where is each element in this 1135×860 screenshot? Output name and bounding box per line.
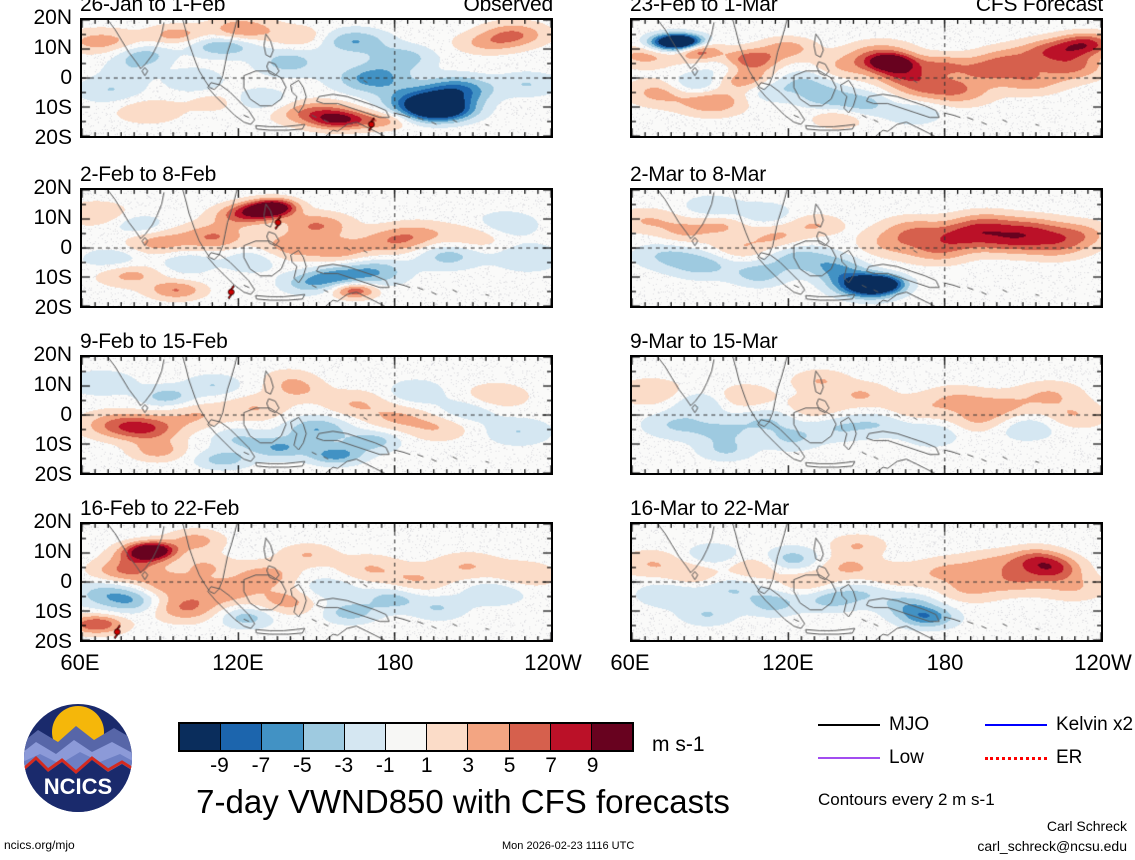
colorbar-swatch-3 — [304, 724, 345, 750]
panel-title: 26-Jan to 1-Feb — [80, 0, 225, 17]
y-tick-0: 0 — [60, 236, 72, 260]
colorbar-swatch-4 — [345, 724, 386, 750]
panel-title: 16-Feb to 22-Feb — [80, 497, 239, 521]
colorbar-tick-label: 9 — [587, 754, 599, 778]
y-tick-20n: 20N — [33, 176, 72, 200]
ncics-logo: NCICS — [22, 702, 134, 814]
panel-forecast-week1: 23-Feb to 1-Mar CFS Forecast — [630, 18, 1103, 138]
logo-text: NCICS — [44, 774, 112, 799]
x-tick-180: 180 — [927, 650, 964, 676]
map-box — [80, 522, 553, 642]
panel-title: 2-Mar to 8-Mar — [630, 163, 766, 187]
map-field — [632, 357, 1101, 473]
colorbar-tick-label: 1 — [421, 754, 433, 778]
panel-observed-week3: 9-Feb to 15-Feb — [80, 355, 553, 475]
chart-main-title: 7-day VWND850 with CFS forecasts — [133, 783, 793, 821]
x-tick-60e: 60E — [610, 650, 649, 676]
y-tick-20n: 20N — [33, 510, 72, 534]
y-tick-0: 0 — [60, 570, 72, 594]
colorbar-swatch-8 — [510, 724, 551, 750]
map-box — [80, 18, 553, 138]
colorbar-swatch-7 — [468, 724, 509, 750]
legend-item-er: ER — [985, 747, 1082, 769]
colorbar-swatch-9 — [551, 724, 592, 750]
map-box — [630, 355, 1103, 475]
colorbar-swatch-5 — [386, 724, 427, 750]
y-tick-0: 0 — [60, 403, 72, 427]
colorbar-tick-label: 3 — [462, 754, 474, 778]
map-box — [630, 18, 1103, 138]
colorbar-tick-label: -7 — [252, 754, 271, 778]
low-line-icon — [818, 757, 880, 759]
panel-forecast-week3: 9-Mar to 15-Mar — [630, 355, 1103, 475]
panel-observed-week1: 26-Jan to 1-Feb Observed — [80, 18, 553, 138]
legend-item-mjo: MJO — [818, 714, 929, 736]
legend-label: Low — [889, 747, 924, 769]
colorbar-tick-label: -5 — [293, 754, 312, 778]
colorbar-swatches — [178, 722, 634, 752]
x-tick-180: 180 — [377, 650, 414, 676]
author-name: Carl Schreck — [1047, 818, 1127, 834]
panel-title: 16-Mar to 22-Mar — [630, 497, 789, 521]
map-box — [80, 188, 553, 308]
y-tick-10s: 10S — [35, 600, 72, 624]
map-field — [82, 190, 551, 306]
legend-item-kelvin: Kelvin x2 — [985, 714, 1133, 736]
colorbar-swatch-1 — [221, 724, 262, 750]
y-tick-20s: 20S — [35, 126, 72, 150]
x-tick-120e: 120E — [762, 650, 813, 676]
map-field — [632, 20, 1101, 136]
panel-corner-label: CFS Forecast — [976, 0, 1103, 17]
legend-label: MJO — [889, 714, 929, 736]
legend-label: ER — [1056, 747, 1082, 769]
y-tick-10s: 10S — [35, 96, 72, 120]
legend-label: Kelvin x2 — [1056, 714, 1133, 736]
colorbar-tick-label: -1 — [376, 754, 395, 778]
site-url[interactable]: ncics.org/mjo — [4, 838, 75, 852]
x-axis-labels-left: 60E 120E 180 120W — [80, 650, 553, 680]
x-tick-120w: 120W — [524, 650, 581, 676]
map-field — [82, 357, 551, 473]
y-tick-10n: 10N — [33, 206, 72, 230]
y-tick-10s: 10S — [35, 433, 72, 457]
panel-forecast-week2: 2-Mar to 8-Mar — [630, 188, 1103, 308]
map-field — [82, 524, 551, 640]
panel-title: 9-Mar to 15-Mar — [630, 330, 778, 354]
y-axis-labels-row2: 20N 10N 0 10S 20S — [0, 188, 72, 308]
colorbar-tick-label: -3 — [334, 754, 353, 778]
author-email[interactable]: carl_schreck@ncsu.edu — [977, 838, 1127, 854]
legend-item-low: Low — [818, 747, 924, 769]
colorbar-units: m s-1 — [652, 733, 705, 757]
mjo-line-icon — [818, 724, 880, 726]
panel-title: 2-Feb to 8-Feb — [80, 163, 216, 187]
map-box — [630, 188, 1103, 308]
map-field — [632, 190, 1101, 306]
panel-title: 9-Feb to 15-Feb — [80, 330, 228, 354]
panel-forecast-week4: 16-Mar to 22-Mar — [630, 522, 1103, 642]
y-tick-20n: 20N — [33, 6, 72, 30]
x-axis-labels-right: 60E 120E 180 120W — [630, 650, 1103, 680]
colorbar-swatch-6 — [427, 724, 468, 750]
wave-legend: MJO Kelvin x2 Low ER — [818, 712, 1128, 774]
colorbar-ticks: -9-7-5-3-113579 — [178, 752, 634, 780]
y-tick-10n: 10N — [33, 36, 72, 60]
er-line-icon — [985, 757, 1047, 760]
y-axis-labels-row1: 20N 10N 0 10S 20S — [0, 18, 72, 138]
panel-observed-week2: 2-Feb to 8-Feb — [80, 188, 553, 308]
panel-corner-label: Observed — [464, 0, 553, 17]
y-axis-labels-row3: 20N 10N 0 10S 20S — [0, 355, 72, 475]
y-tick-10n: 10N — [33, 373, 72, 397]
panel-observed-week4: 16-Feb to 22-Feb — [80, 522, 553, 642]
contour-note: Contours every 2 m s-1 — [818, 790, 995, 810]
colorbar-tick-label: 7 — [545, 754, 557, 778]
y-tick-20s: 20S — [35, 463, 72, 487]
panel-title: 23-Feb to 1-Mar — [630, 0, 778, 17]
y-axis-labels-row4: 20N 10N 0 10S 20S — [0, 522, 72, 642]
map-box — [630, 522, 1103, 642]
map-field — [632, 524, 1101, 640]
y-tick-10s: 10S — [35, 266, 72, 290]
colorbar: -9-7-5-3-113579 — [178, 722, 634, 780]
map-box — [80, 355, 553, 475]
colorbar-swatch-10 — [592, 724, 632, 750]
y-tick-20s: 20S — [35, 296, 72, 320]
colorbar-swatch-0 — [180, 724, 221, 750]
colorbar-swatch-2 — [262, 724, 303, 750]
timestamp: Mon 2026-02-23 1116 UTC — [502, 840, 634, 852]
x-tick-120e: 120E — [212, 650, 263, 676]
y-tick-20n: 20N — [33, 343, 72, 367]
colorbar-tick-label: 5 — [504, 754, 516, 778]
colorbar-tick-label: -9 — [210, 754, 229, 778]
y-tick-10n: 10N — [33, 540, 72, 564]
x-tick-60e: 60E — [60, 650, 99, 676]
map-field — [82, 20, 551, 136]
panel-grid: 20N 10N 0 10S 20S 20N 10N 0 10S 20S 20N … — [0, 0, 1135, 690]
y-tick-0: 0 — [60, 66, 72, 90]
x-tick-120w: 120W — [1074, 650, 1131, 676]
kelvin-line-icon — [985, 724, 1047, 726]
